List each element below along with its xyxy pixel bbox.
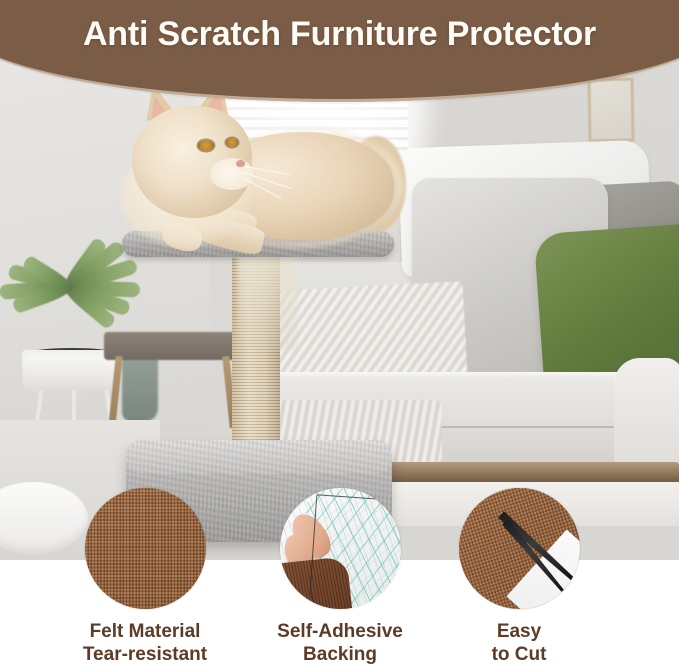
adhesive-backing-thumbnail (280, 488, 401, 609)
peel-edge-outline (308, 494, 401, 609)
scissors-cutting-thumbnail (459, 488, 580, 609)
feature-caption-line1: Easy (497, 621, 541, 642)
product-infographic: Anti Scratch Furniture Protector Felt Ma… (0, 0, 679, 665)
feature-caption-line2: Backing (252, 643, 428, 665)
felt-texture-thumbnail (85, 488, 206, 609)
feature-row: Felt Material Tear-resistant Self-Adhesi… (0, 0, 679, 665)
feature-caption-adhesive: Self-Adhesive Backing (252, 620, 428, 665)
feature-caption-line1: Felt Material (90, 621, 201, 642)
felt-texture (85, 488, 206, 609)
feature-caption-cut: Easy to Cut (431, 620, 607, 665)
feature-caption-felt: Felt Material Tear-resistant (57, 620, 233, 665)
banner-title: Anti Scratch Furniture Protector (0, 14, 679, 54)
feature-caption-line2: Tear-resistant (57, 643, 233, 665)
feature-caption-line1: Self-Adhesive (277, 621, 403, 642)
feature-caption-line2: to Cut (431, 643, 607, 665)
